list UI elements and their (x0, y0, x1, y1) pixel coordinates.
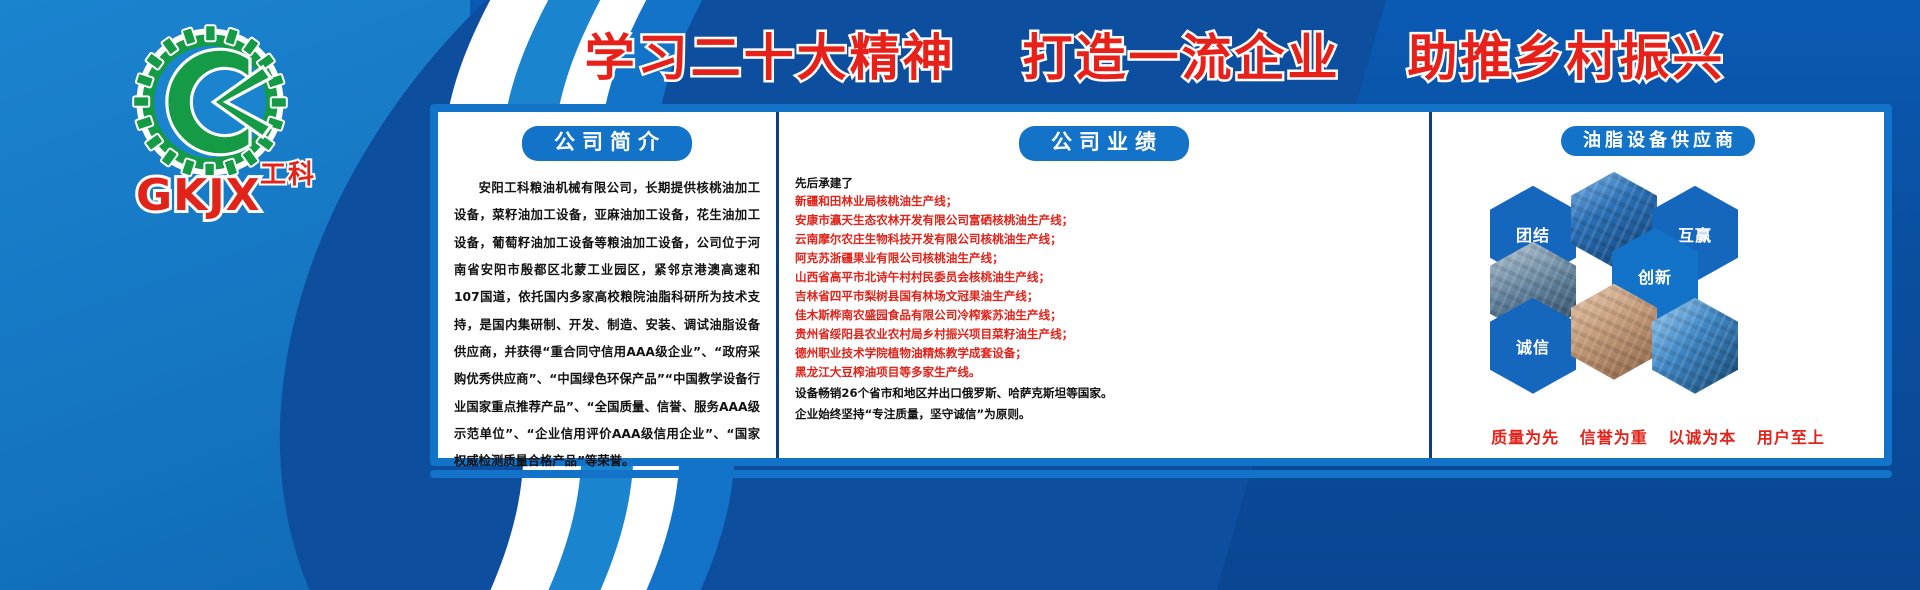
list-item: 吉林省四平市梨树县国有林场文冠果油生产线； (795, 287, 1413, 306)
performance-heading: 公司业绩 (1019, 126, 1189, 161)
board-bottom-strip (430, 470, 1892, 478)
profile-heading: 公司简介 (522, 126, 692, 161)
supplier-heading: 油脂设备供应商 (1561, 126, 1755, 156)
hexagon-cluster: 团结 互赢 创新 诚信 (1448, 172, 1868, 418)
performance-tail-2: 企业始终坚持“专注质量，坚守诚信”为原则。 (795, 405, 1413, 424)
list-item: 云南摩尔农庄生物科技开发有限公司核桃油生产线； (795, 230, 1413, 249)
performance-list: 新疆和田林业局核桃油生产线； 安康市瀛天生态农林开发有限公司富硒核桃油生产线； … (795, 192, 1413, 382)
hex-label: 创新 (1638, 264, 1672, 288)
panel-company-profile: 公司简介 安阳工科粮油机械有限公司，长期提供核桃油加工设备，菜籽油加工设备，亚麻… (438, 112, 776, 458)
hex-label: 诚信 (1516, 334, 1550, 358)
list-item: 佳木斯桦南农盛园食品有限公司冷榨紫苏油生产线； (795, 306, 1413, 325)
title-part-2: 打造一流企业 (1023, 29, 1341, 87)
slogan-part-3: 以诚为本 (1668, 424, 1736, 448)
hex-label: 互赢 (1678, 222, 1712, 246)
list-item: 安康市瀛天生态农林开发有限公司富硒核桃油生产线； (795, 211, 1413, 230)
poster-canvas: GKJX 工科 学习二十大精神 打造一流企业 助推乡村振兴 公司简介 安阳工科粮… (0, 0, 1920, 590)
panel-supplier: 油脂设备供应商 团结 互赢 创新 诚信 (1432, 112, 1884, 458)
panel-company-performance: 公司业绩 先后承建了 新疆和田林业局核桃油生产线； 安康市瀛天生态农林开发有限公… (776, 112, 1432, 458)
logo-cn-text: 工科 (260, 154, 316, 191)
list-item: 德州职业技术学院植物油精炼教学成套设备； (795, 344, 1413, 363)
list-item: 新疆和田林业局核桃油生产线； (795, 192, 1413, 211)
content-board: 公司简介 安阳工科粮油机械有限公司，长期提供核桃油加工设备，菜籽油加工设备，亚麻… (430, 104, 1892, 466)
company-logo: GKJX 工科 (112, 22, 342, 202)
title-part-3: 助推乡村振兴 (1407, 29, 1725, 87)
performance-tail-1: 设备畅销26个省市和地区并出口俄罗斯、哈萨克斯坦等国家。 (795, 384, 1413, 403)
slogan-part-2: 信誉为重 (1580, 424, 1648, 448)
list-item: 贵州省绥阳县农业农村局乡村振兴项目菜籽油生产线； (795, 325, 1413, 344)
supplier-slogan: 质量为先 信誉为重 以诚为本 用户至上 (1448, 424, 1868, 448)
title-part-1: 学习二十大精神 (585, 29, 956, 87)
profile-body: 安阳工科粮油机械有限公司，长期提供核桃油加工设备，菜籽油加工设备，亚麻油加工设备… (454, 175, 760, 475)
logo-en-text: GKJX (136, 170, 261, 221)
list-item: 阿克苏浙疆果业有限公司核桃油生产线； (795, 249, 1413, 268)
list-item: 黑龙江大豆榨油项目等多家生产线。 (795, 363, 1413, 382)
slogan-part-1: 质量为先 (1491, 424, 1559, 448)
list-item: 山西省高平市北诗午村村民委员会核桃油生产线； (795, 268, 1413, 287)
page-title: 学习二十大精神 打造一流企业 助推乡村振兴 (585, 18, 1726, 90)
slogan-part-4: 用户至上 (1757, 424, 1825, 448)
performance-lead: 先后承建了 (795, 175, 1413, 191)
poster-header: 学习二十大精神 打造一流企业 助推乡村振兴 (420, 14, 1890, 94)
